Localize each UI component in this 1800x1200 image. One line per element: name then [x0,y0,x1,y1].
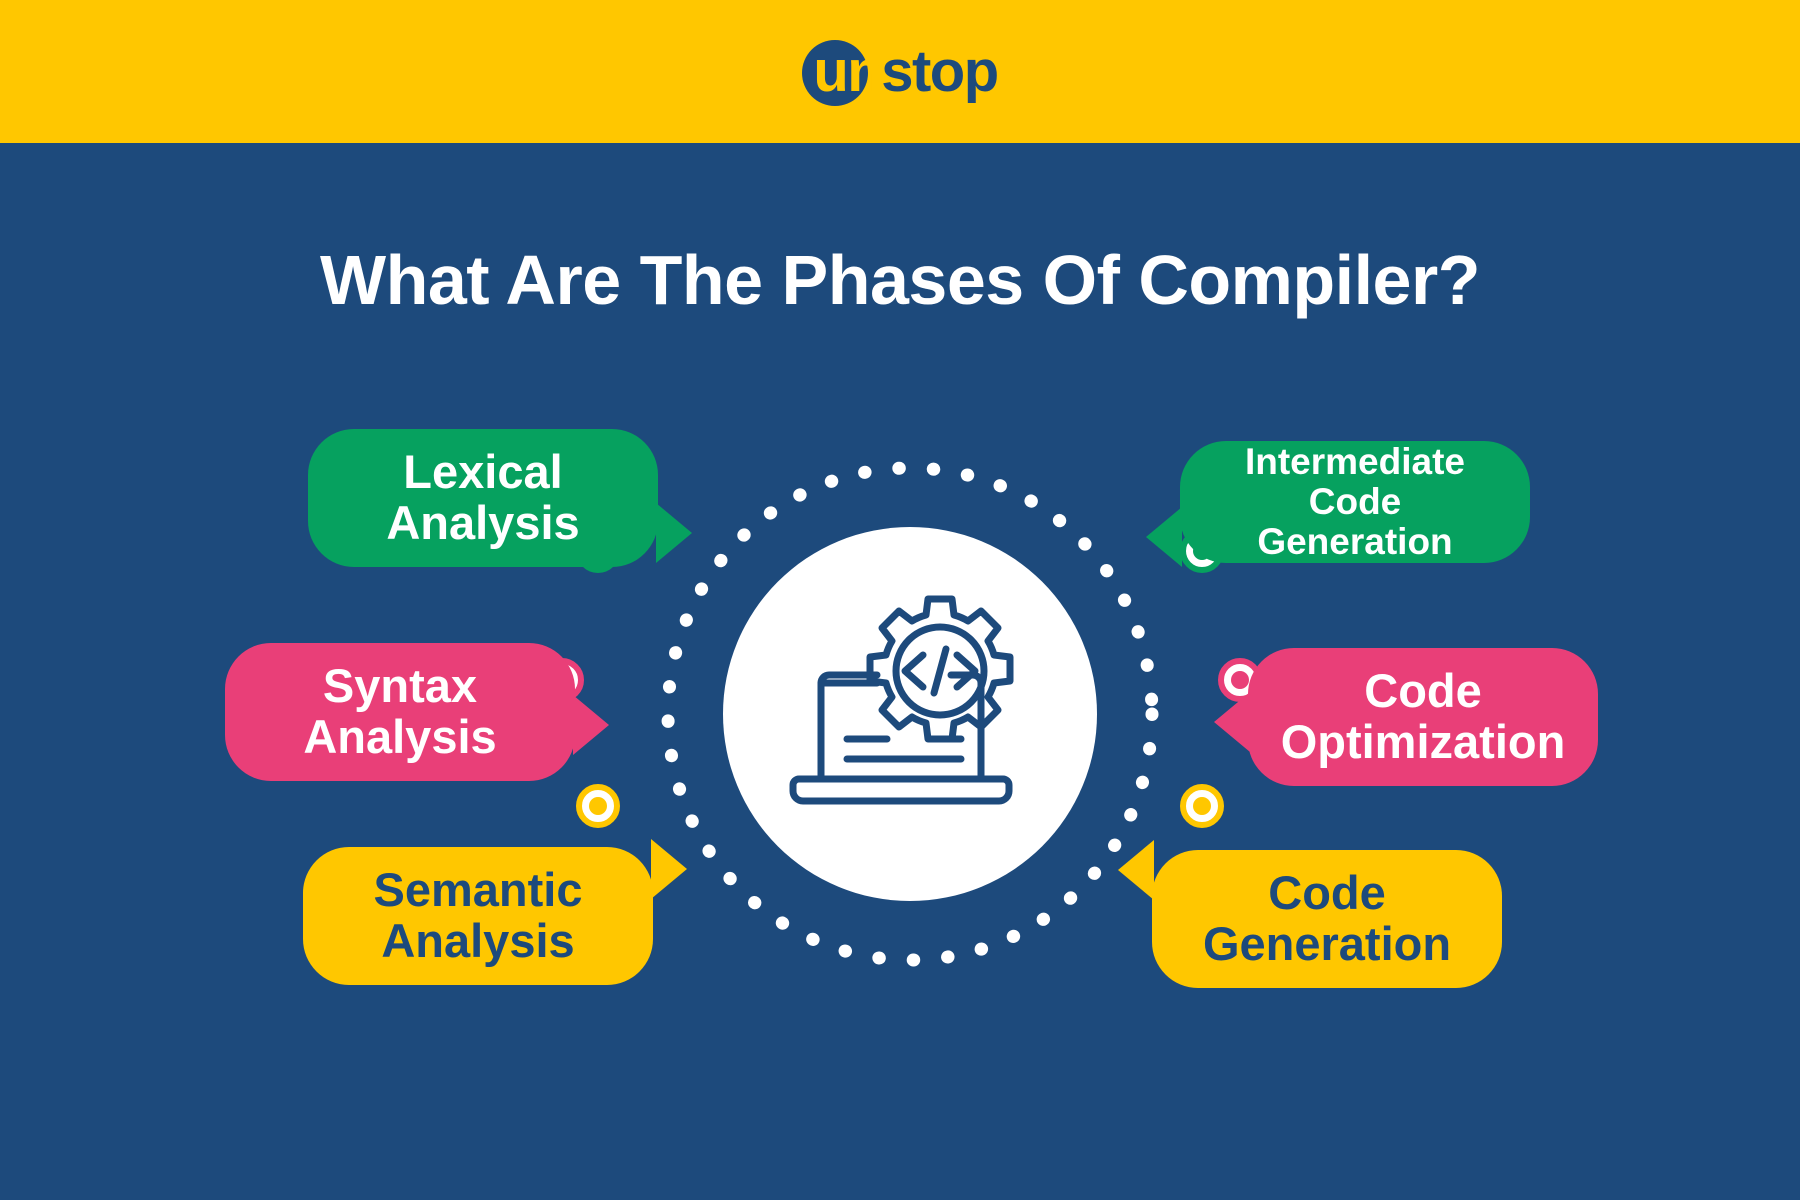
phase-label-lexical-analysis: Lexical Analysis [308,447,658,549]
unstop-logo[interactable]: unstop [802,32,997,112]
bubble-tail-icon [573,695,609,755]
bubble-tail-icon [651,839,687,899]
marker-semantic-analysis[interactable] [576,784,620,828]
marker-dot-icon [589,797,607,815]
phase-bubble-syntax-analysis[interactable]: Syntax Analysis [225,643,575,781]
infographic-page: unstop What Are The Phases Of Compiler? [0,0,1800,1200]
phase-bubble-code-generation[interactable]: Code Generation [1152,850,1502,988]
page-title: What Are The Phases Of Compiler? [0,240,1800,320]
bubble-tail-icon [1214,692,1250,752]
phase-bubble-lexical-analysis[interactable]: Lexical Analysis [308,429,658,567]
laptop-gear-code-icon [783,587,1037,841]
bubble-tail-icon [656,503,692,563]
phase-bubble-intermediate-code-generation[interactable]: Intermediate Code Generation [1180,441,1530,563]
logo-text-un: un [813,39,881,104]
phase-label-code-optimization: Code Optimization [1248,666,1598,768]
marker-dot-icon [1231,671,1249,689]
phase-label-intermediate-code-generation: Intermediate Code Generation [1180,442,1530,562]
phase-label-code-generation: Code Generation [1152,868,1502,970]
marker-code-generation[interactable] [1180,784,1224,828]
bubble-tail-icon [1146,507,1182,567]
marker-dot-icon [1193,797,1211,815]
phase-bubble-code-optimization[interactable]: Code Optimization [1248,648,1598,786]
header-bar: unstop [0,0,1800,143]
phase-label-syntax-analysis: Syntax Analysis [225,661,575,763]
phase-label-semantic-analysis: Semantic Analysis [303,865,653,967]
phases-diagram: Lexical Analysis Syntax Analysis Semanti… [0,400,1800,1020]
bubble-tail-icon [1118,840,1154,900]
phase-bubble-semantic-analysis[interactable]: Semantic Analysis [303,847,653,985]
logo-text-stop: stop [881,39,997,104]
